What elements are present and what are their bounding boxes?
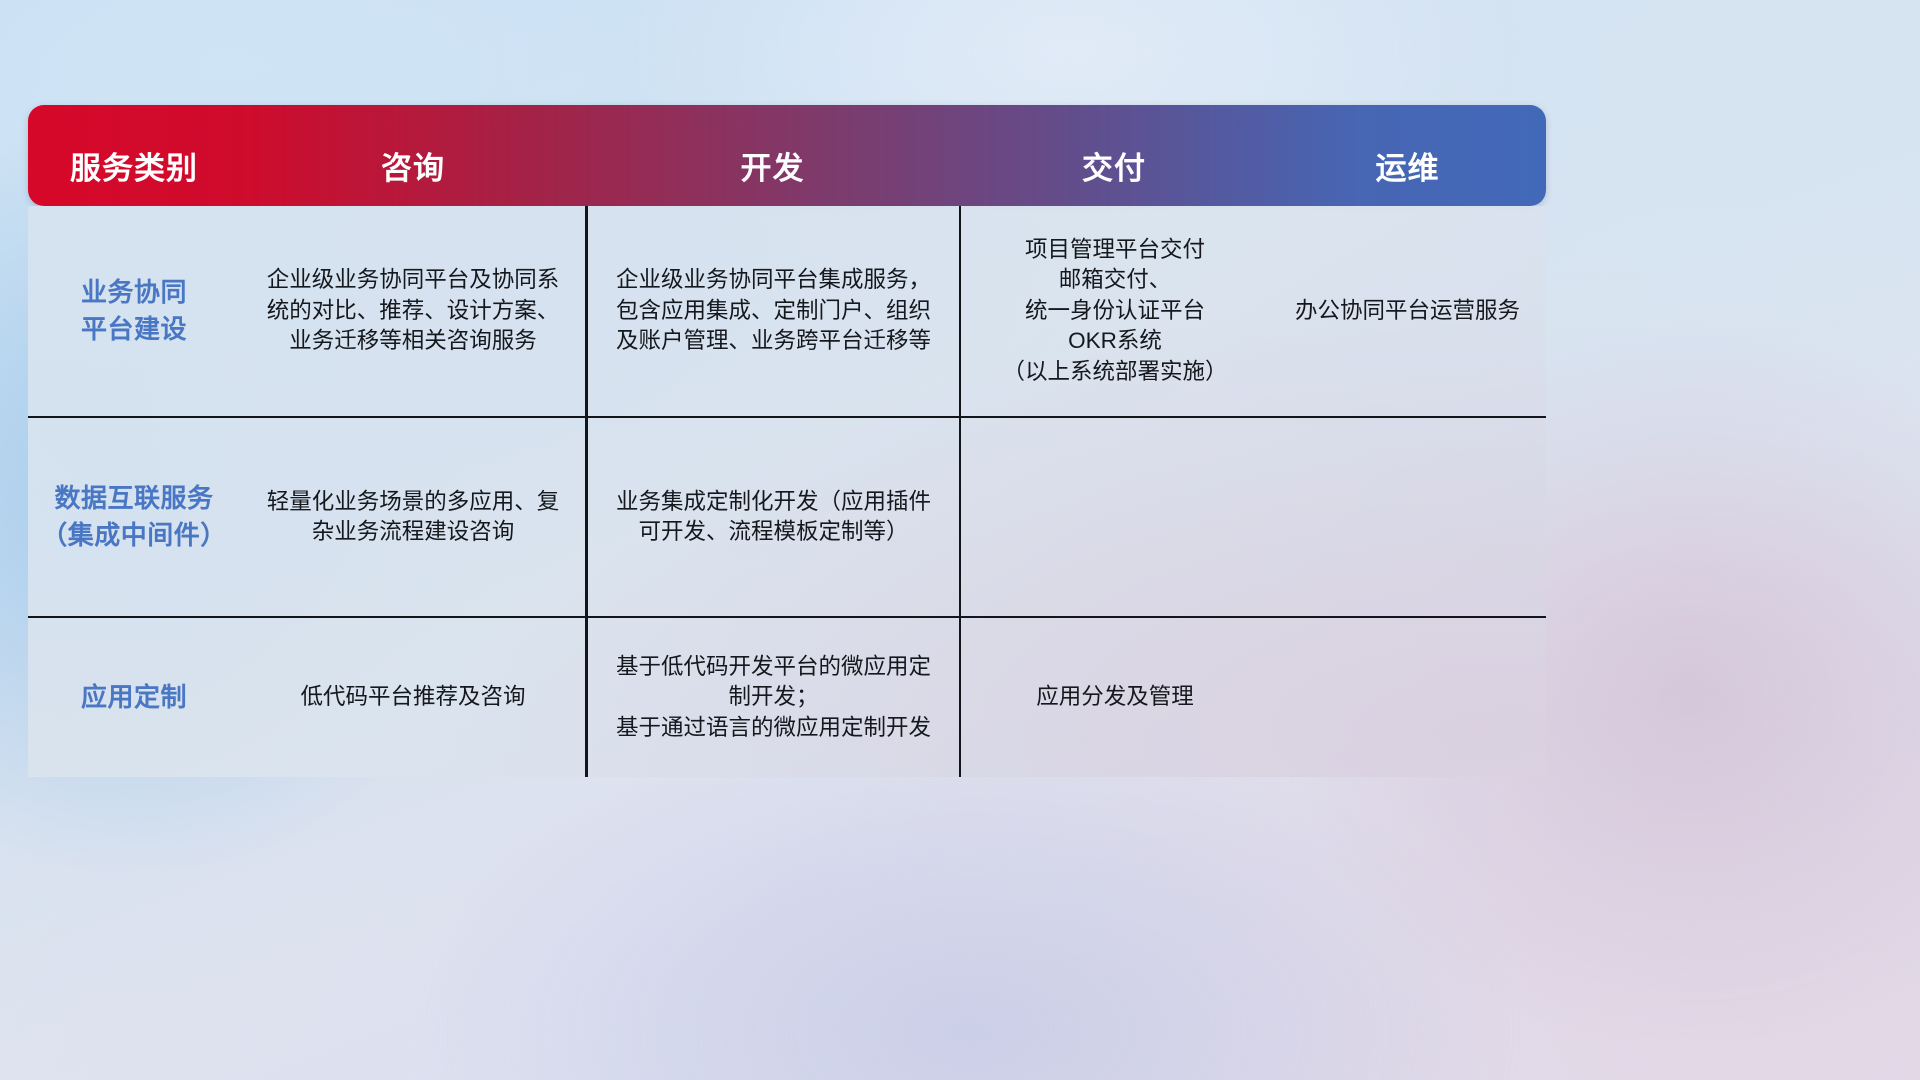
column-header-delivery: 交付 xyxy=(959,143,1269,206)
cell-delivery-row-1 xyxy=(959,418,1269,616)
cell-consulting-row-1: 轻量化业务场景的多应用、复 杂业务流程建设咨询 xyxy=(240,418,586,616)
service-matrix-table: 服务类别 咨询 开发 交付 运维 业务协同 平台建设 企业级业务协同平台及协同系… xyxy=(28,105,1546,777)
column-header-operations: 运维 xyxy=(1269,143,1546,206)
cell-development-row-0: 企业级业务协同平台集成服务， 包含应用集成、定制门户、组织 及账户管理、业务跨平… xyxy=(586,206,959,416)
cell-development-row-1: 业务集成定制化开发（应用插件 可开发、流程模板定制等） xyxy=(586,418,959,616)
row-label-data-interconnect: 数据互联服务 （集成中间件） xyxy=(28,418,240,616)
cell-delivery-row-0: 项目管理平台交付 邮箱交付、 统一身份认证平台 OKR系统 （以上系统部署实施） xyxy=(959,206,1269,416)
table-row: 应用定制 低代码平台推荐及咨询 基于低代码开发平台的微应用定 制开发； 基于通过… xyxy=(28,618,1546,777)
column-header-consulting: 咨询 xyxy=(240,143,586,206)
table-header-row: 服务类别 咨询 开发 交付 运维 xyxy=(28,105,1546,206)
cell-consulting-row-0: 企业级业务协同平台及协同系 统的对比、推荐、设计方案、 业务迁移等相关咨询服务 xyxy=(240,206,586,416)
row-label-app-customization: 应用定制 xyxy=(28,618,240,777)
cell-consulting-row-2: 低代码平台推荐及咨询 xyxy=(240,618,586,777)
table-body: 业务协同 平台建设 企业级业务协同平台及协同系 统的对比、推荐、设计方案、 业务… xyxy=(28,206,1546,777)
row-label-business-collaboration: 业务协同 平台建设 xyxy=(28,206,240,416)
table-row: 业务协同 平台建设 企业级业务协同平台及协同系 统的对比、推荐、设计方案、 业务… xyxy=(28,206,1546,418)
column-header-category: 服务类别 xyxy=(28,143,240,206)
table-row: 数据互联服务 （集成中间件） 轻量化业务场景的多应用、复 杂业务流程建设咨询 业… xyxy=(28,418,1546,618)
cell-operations-row-0: 办公协同平台运营服务 xyxy=(1269,206,1546,416)
cell-development-row-2: 基于低代码开发平台的微应用定 制开发； 基于通过语言的微应用定制开发 xyxy=(586,618,959,777)
cell-operations-row-2 xyxy=(1269,618,1546,777)
cell-delivery-row-2: 应用分发及管理 xyxy=(959,618,1269,777)
cell-operations-row-1 xyxy=(1269,418,1546,616)
column-header-development: 开发 xyxy=(586,143,959,206)
